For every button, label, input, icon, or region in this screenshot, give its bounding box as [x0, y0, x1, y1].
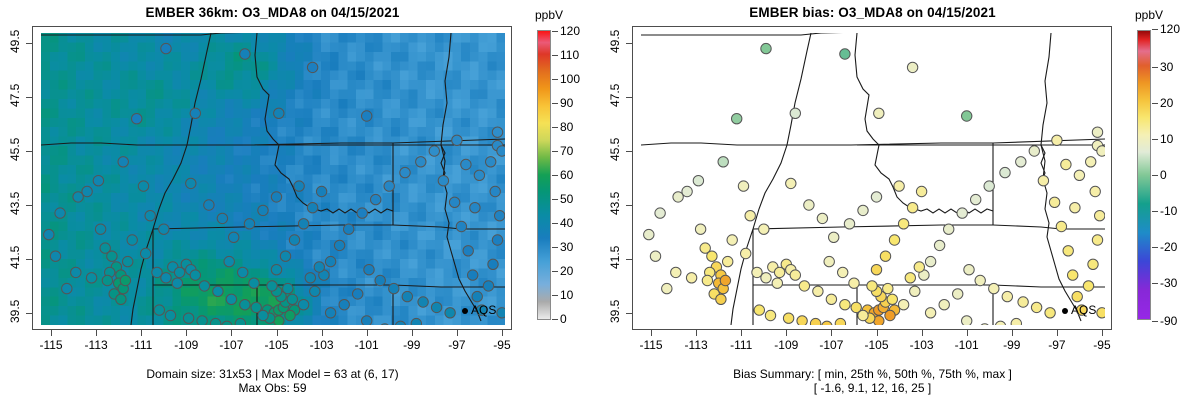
- x-axis-tick-label: -103: [302, 338, 342, 352]
- bias-caption-line2: [ -1.6, 9.1, 12, 16, 25 ]: [600, 381, 1145, 395]
- colorbar-tick: [1152, 211, 1158, 212]
- colorbar-tick: [1152, 139, 1158, 140]
- page-title: EMBER 36km: O3_MDA8 on 04/15/2021: [0, 5, 545, 20]
- x-axis-tick: [877, 330, 878, 336]
- colorbar-tick-label: 30: [1160, 67, 1173, 81]
- colorbar-tick-label: 50: [560, 199, 573, 213]
- x-axis-tick-label: -115: [631, 338, 671, 352]
- colorbar-tick-label: 30: [560, 247, 573, 261]
- colorbar-tick: [552, 223, 558, 224]
- y-axis-tick: [626, 205, 632, 206]
- x-axis-tick-label: -111: [121, 338, 161, 352]
- colorbar-min-label: -90: [1160, 321, 1177, 335]
- colorbar-tick: [1152, 67, 1158, 68]
- x-axis-tick: [922, 330, 923, 336]
- city-marker-aqs: [462, 308, 468, 314]
- x-axis-tick-label: -107: [211, 338, 251, 352]
- y-axis-tick-label: 39.5: [8, 301, 22, 323]
- colorbar-tick: [552, 151, 558, 152]
- city-label-bias: AQS: [1071, 303, 1096, 317]
- x-axis-tick: [967, 330, 968, 336]
- y-axis-tick: [26, 43, 32, 44]
- x-axis-tick-label: -115: [31, 338, 71, 352]
- x-axis-tick: [412, 330, 413, 336]
- bias-colorbar-gradient: [1137, 30, 1151, 320]
- x-axis-tick: [277, 330, 278, 336]
- x-axis-tick: [741, 330, 742, 336]
- y-axis-tick-label: 43.5: [608, 193, 622, 215]
- x-axis-tick-label: -109: [166, 338, 206, 352]
- colorbar-tick-label: 110: [560, 55, 579, 69]
- colorbar-tick-label: 0: [1160, 175, 1167, 189]
- colorbar-tick: [552, 199, 558, 200]
- colorbar-tick-label: 20: [1160, 103, 1173, 117]
- colorbar-tick: [1152, 283, 1158, 284]
- y-axis-tick: [626, 151, 632, 152]
- x-axis-tick: [651, 330, 652, 336]
- x-axis-tick-label: -105: [857, 338, 897, 352]
- colorbar-tick-label: 10: [560, 295, 573, 309]
- y-axis-tick-label: 47.5: [608, 85, 622, 107]
- model-caption-line2: Max Obs: 59: [0, 381, 545, 395]
- x-axis-tick: [502, 330, 503, 336]
- x-axis-tick: [1012, 330, 1013, 336]
- x-axis-tick: [1057, 330, 1058, 336]
- model-colorbar-gradient: [537, 30, 551, 320]
- bias-panel: EMBER bias: O3_MDA8 on 04/15/2021 AQS -1…: [600, 0, 1200, 409]
- colorbar-tick-label: -30: [1160, 283, 1177, 297]
- colorbar-tick-label: 0: [560, 319, 567, 333]
- x-axis-tick-label: -101: [947, 338, 987, 352]
- model-map-svg: [41, 33, 505, 325]
- y-axis-tick-label: 49.5: [608, 31, 622, 53]
- x-axis-tick-label: -105: [257, 338, 297, 352]
- y-axis-tick-label: 43.5: [8, 193, 22, 215]
- bias-plot-area[interactable]: AQS: [632, 26, 1112, 330]
- colorbar-tick: [552, 247, 558, 248]
- y-axis-tick: [26, 313, 32, 314]
- bias-map-svg: [641, 33, 1105, 325]
- bias-title: EMBER bias: O3_MDA8 on 04/15/2021: [600, 5, 1145, 20]
- x-axis-tick: [786, 330, 787, 336]
- y-axis-tick: [626, 313, 632, 314]
- y-axis-tick: [26, 151, 32, 152]
- x-axis-tick: [696, 330, 697, 336]
- y-axis-tick-label: 45.5: [608, 139, 622, 161]
- y-axis-tick-label: 41.5: [608, 247, 622, 269]
- colorbar-max-label: 120: [1160, 29, 1180, 43]
- y-axis-tick: [626, 43, 632, 44]
- x-axis-tick-label: -99: [392, 338, 432, 352]
- colorbar-tick-label: -20: [1160, 247, 1177, 261]
- x-axis-tick: [51, 330, 52, 336]
- x-axis-tick-label: -97: [1037, 338, 1077, 352]
- x-axis-tick: [231, 330, 232, 336]
- x-axis-tick: [1102, 330, 1103, 336]
- colorbar-tick-label: 10: [1160, 139, 1173, 153]
- x-axis-tick-label: -97: [437, 338, 477, 352]
- x-axis-tick-label: -111: [721, 338, 761, 352]
- colorbar-tick: [552, 79, 558, 80]
- x-axis-tick-label: -107: [811, 338, 851, 352]
- colorbar-tick-label: 100: [560, 79, 580, 93]
- y-axis-tick: [26, 259, 32, 260]
- x-axis-tick-label: -109: [766, 338, 806, 352]
- x-axis-tick-label: -103: [902, 338, 942, 352]
- x-axis-tick-label: -95: [1082, 338, 1122, 352]
- model-map-canvas: AQS: [41, 33, 505, 325]
- bias-caption-line1: Bias Summary: [ min, 25th %, 50th %, 75t…: [600, 367, 1145, 381]
- colorbar-tick: [552, 31, 558, 32]
- y-axis-tick-label: 39.5: [608, 301, 622, 323]
- x-axis-tick-label: -113: [676, 338, 716, 352]
- x-axis-tick: [322, 330, 323, 336]
- colorbar-tick: [1152, 247, 1158, 248]
- x-axis-tick: [141, 330, 142, 336]
- bias-colorbar-units: ppbV: [1123, 8, 1175, 22]
- colorbar-tick: [552, 175, 558, 176]
- colorbar-tick: [552, 127, 558, 128]
- colorbar-tick: [552, 55, 558, 56]
- x-axis-tick: [186, 330, 187, 336]
- colorbar-tick: [1152, 321, 1158, 322]
- x-axis-tick-label: -99: [992, 338, 1032, 352]
- y-axis-tick: [26, 97, 32, 98]
- colorbar-tick-label: 70: [560, 151, 573, 165]
- x-axis-tick: [457, 330, 458, 336]
- x-axis-tick-label: -101: [347, 338, 387, 352]
- bias-colorbar: ppbV -30-20-100102030120-90: [1125, 26, 1197, 332]
- x-axis-tick: [367, 330, 368, 336]
- model-colorbar: ppbV 0102030405060708090100110120: [525, 26, 597, 332]
- model-panel: EMBER 36km: O3_MDA8 on 04/15/2021: [0, 0, 600, 409]
- colorbar-tick: [552, 103, 558, 104]
- model-colorbar-units: ppbV: [523, 8, 575, 22]
- y-axis-tick-label: 45.5: [8, 139, 22, 161]
- colorbar-tick-label: 40: [560, 223, 573, 237]
- x-axis-tick: [96, 330, 97, 336]
- model-plot-area[interactable]: AQS: [32, 26, 512, 330]
- y-axis-tick-label: 41.5: [8, 247, 22, 269]
- colorbar-tick-label: 90: [560, 103, 573, 117]
- city-label: AQS: [471, 303, 496, 317]
- x-axis-tick-label: -113: [76, 338, 116, 352]
- colorbar-tick-label: 120: [560, 31, 580, 45]
- colorbar-tick: [552, 319, 558, 320]
- colorbar-tick-label: 80: [560, 127, 573, 141]
- colorbar-tick-label: 60: [560, 175, 573, 189]
- colorbar-tick: [552, 271, 558, 272]
- colorbar-tick: [1152, 103, 1158, 104]
- colorbar-tick: [1152, 175, 1158, 176]
- y-axis-tick-label: 49.5: [8, 31, 22, 53]
- colorbar-tick-label: -10: [1160, 211, 1177, 225]
- y-axis-tick: [626, 97, 632, 98]
- y-axis-tick: [626, 259, 632, 260]
- city-marker-aqs-bias: [1062, 308, 1068, 314]
- y-axis-tick: [26, 205, 32, 206]
- bias-markers: [644, 43, 1105, 325]
- bias-map-canvas: AQS: [641, 33, 1105, 325]
- x-axis-tick: [831, 330, 832, 336]
- model-caption-line1: Domain size: 31x53 | Max Model = 63 at (…: [0, 367, 545, 381]
- x-axis-tick-label: -95: [482, 338, 522, 352]
- colorbar-tick: [1152, 29, 1158, 30]
- colorbar-tick-label: 20: [560, 271, 573, 285]
- y-axis-tick-label: 47.5: [8, 85, 22, 107]
- colorbar-tick: [552, 295, 558, 296]
